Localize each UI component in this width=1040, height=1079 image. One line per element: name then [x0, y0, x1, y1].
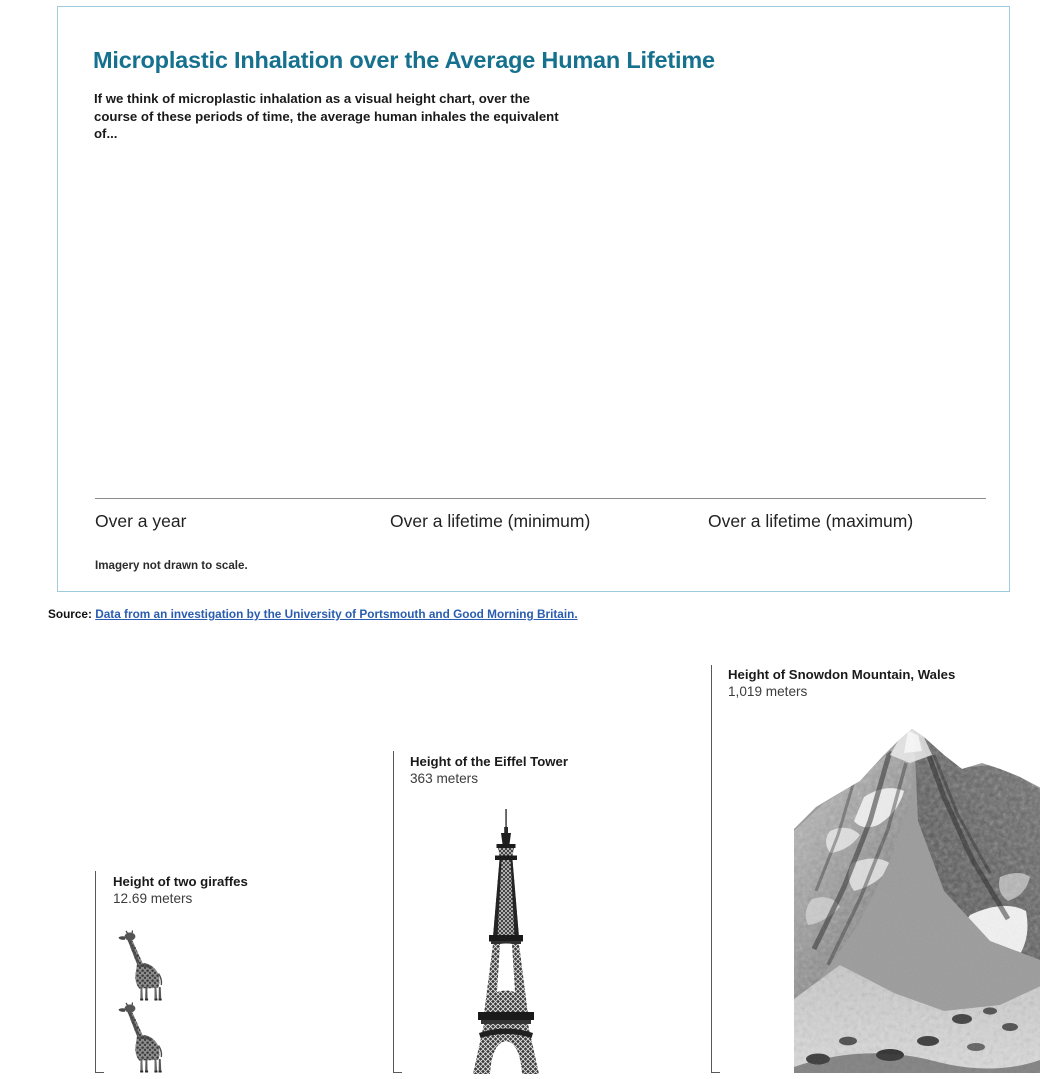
column-label-value: 363 meters	[410, 770, 568, 788]
category-caption-lifetime-maximum: Over a lifetime (maximum)	[708, 511, 913, 532]
column-label-title: Height of Snowdon Mountain, Wales	[728, 667, 955, 683]
scale-disclaimer: Imagery not drawn to scale.	[95, 559, 248, 572]
column-label-giraffes: Height of two giraffes 12.69 meters	[113, 874, 248, 908]
snowdon-mountain-photo	[794, 711, 1040, 1073]
eiffel-tower-icon	[448, 809, 564, 1079]
category-caption-year: Over a year	[95, 511, 186, 532]
column-label-snowdon: Height of Snowdon Mountain, Wales 1,019 …	[728, 667, 955, 701]
measure-bracket-eiffel	[393, 751, 402, 1073]
measure-bracket-snowdon	[711, 665, 720, 1073]
source-link[interactable]: Data from an investigation by the Univer…	[95, 607, 577, 621]
category-caption-lifetime-minimum: Over a lifetime (minimum)	[390, 511, 590, 532]
measure-bracket-giraffes	[95, 871, 104, 1073]
column-label-value: 12.69 meters	[113, 890, 248, 908]
chart-plot-area: Height of two giraffes 12.69 meters	[58, 7, 1011, 593]
column-label-eiffel: Height of the Eiffel Tower 363 meters	[410, 754, 568, 788]
column-label-title: Height of two giraffes	[113, 874, 248, 890]
giraffe-icon	[116, 1001, 178, 1073]
column-label-value: 1,019 meters	[728, 683, 955, 701]
infographic-card: Microplastic Inhalation over the Average…	[57, 6, 1010, 592]
source-line: Source: Data from an investigation by th…	[48, 607, 578, 621]
source-prefix: Source:	[48, 607, 92, 621]
giraffe-icon	[116, 929, 178, 1001]
column-label-title: Height of the Eiffel Tower	[410, 754, 568, 770]
axis-separator-line	[95, 498, 986, 499]
